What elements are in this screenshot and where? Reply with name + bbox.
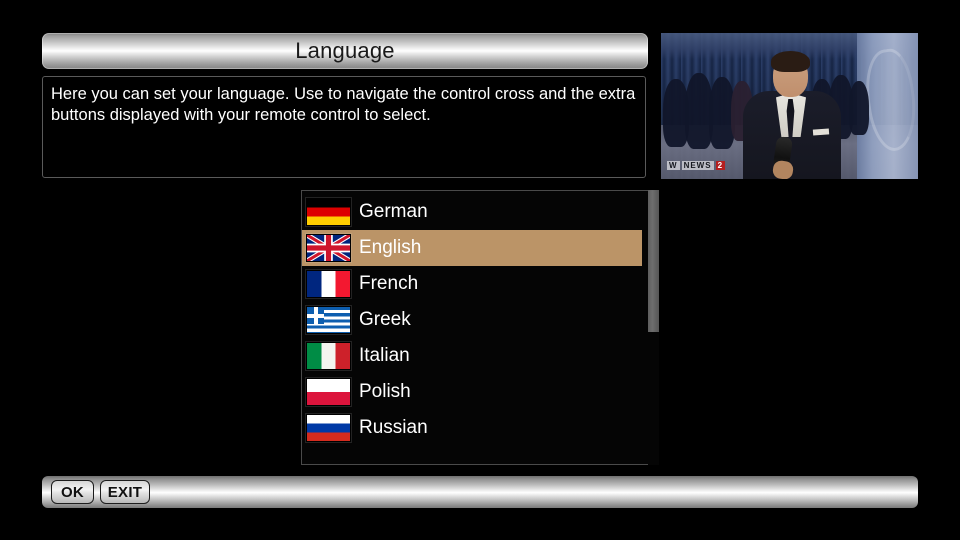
greek-cross-horizontal [307, 314, 324, 318]
language-list-item[interactable]: Russian [302, 410, 642, 446]
flag-icon [306, 378, 351, 406]
language-list-item[interactable]: German [302, 194, 642, 230]
reporter-hair [771, 51, 810, 72]
language-list-item-label: English [359, 237, 421, 259]
help-text-box: Here you can set your language. Use to n… [42, 76, 646, 178]
channel-logo-text-3: 2 [716, 161, 725, 170]
channel-logo-text-1: W [667, 161, 680, 170]
exit-button[interactable]: EXIT [100, 480, 150, 504]
language-list-item-label: Italian [359, 345, 410, 367]
title-bar: Language [42, 33, 648, 69]
flag-icon [306, 270, 351, 298]
language-list-panel[interactable]: GermanEnglishFrenchGreekItalianPolishRus… [301, 190, 659, 465]
language-list-item-label: Polish [359, 381, 411, 403]
language-list-item[interactable]: Italian [302, 338, 642, 374]
crowd-figure [849, 81, 869, 135]
language-list-item[interactable]: Greek [302, 302, 642, 338]
flag-icon [306, 198, 351, 226]
language-list-item[interactable]: French [302, 266, 642, 302]
page-title: Language [42, 38, 648, 64]
reporter-pocket-square [813, 128, 829, 135]
language-list-item[interactable]: English [302, 230, 642, 266]
help-text: Here you can set your language. Use to n… [51, 84, 637, 126]
language-list-item-label: Russian [359, 417, 428, 439]
channel-logo-text-2: NEWS [682, 161, 714, 170]
flag-icon [306, 234, 351, 262]
ok-button[interactable]: OK [51, 480, 94, 504]
language-list-item[interactable]: Polish [302, 374, 642, 410]
flag-icon [306, 306, 351, 334]
union-jack-icon [307, 235, 350, 261]
list-scrollbar-track[interactable] [648, 190, 659, 465]
channel-logo: WNEWS2 [667, 161, 725, 170]
tv-osd-screen: Language Here you can set your language.… [0, 0, 960, 540]
flag-icon [306, 342, 351, 370]
language-list-item-label: French [359, 273, 418, 295]
language-list-item-label: Greek [359, 309, 411, 331]
flag-icon [306, 414, 351, 442]
reporter-hand [772, 160, 794, 179]
list-scrollbar-thumb[interactable] [648, 190, 659, 332]
video-preview[interactable]: WNEWS2 [661, 33, 918, 179]
footer-bar: OK EXIT [42, 476, 918, 508]
language-list-item-label: German [359, 201, 428, 223]
language-list: GermanEnglishFrenchGreekItalianPolishRus… [302, 194, 642, 446]
